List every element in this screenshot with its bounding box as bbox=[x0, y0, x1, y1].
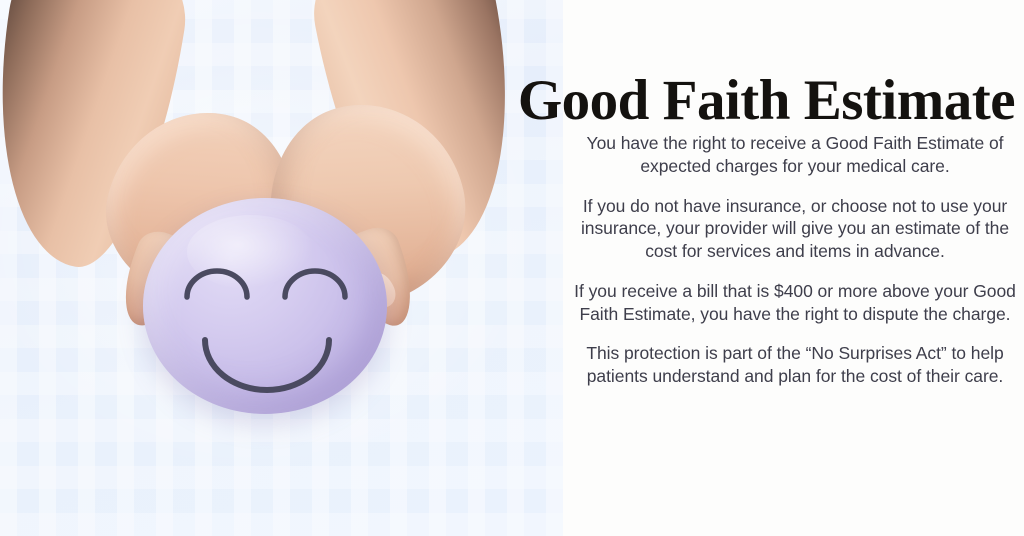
smiley-face-icon bbox=[143, 198, 387, 414]
page-title: Good Faith Estimate bbox=[495, 72, 1015, 130]
right-eye-arc bbox=[285, 271, 345, 297]
paragraph-no-surprises-act: This protection is part of the “No Surpr… bbox=[569, 342, 1021, 388]
photo-panel bbox=[0, 0, 563, 536]
good-faith-estimate-graphic: Good Faith Estimate You have the right t… bbox=[0, 0, 1024, 536]
paragraph-dispute-threshold: If you receive a bill that is $400 or mo… bbox=[569, 280, 1021, 326]
paragraph-right-to-estimate: You have the right to receive a Good Fai… bbox=[569, 132, 1021, 178]
smile-arc bbox=[205, 340, 329, 390]
smiley-face-ball bbox=[143, 198, 387, 414]
body-copy: You have the right to receive a Good Fai… bbox=[569, 132, 1021, 388]
paragraph-uninsured-estimate: If you do not have insurance, or choose … bbox=[569, 195, 1021, 263]
text-panel: Good Faith Estimate You have the right t… bbox=[563, 0, 1024, 536]
left-eye-arc bbox=[187, 271, 247, 297]
